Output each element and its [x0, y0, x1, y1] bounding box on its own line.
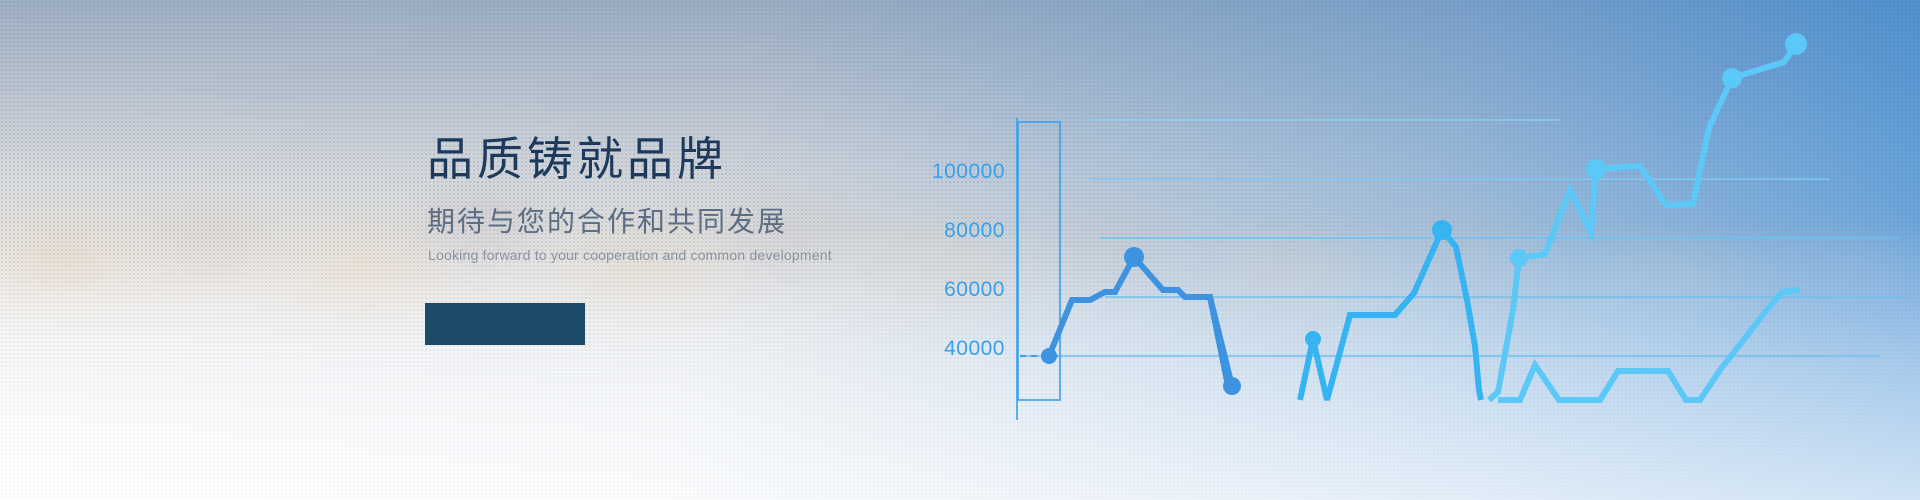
- hero-headline: 品质铸就品牌: [427, 136, 1047, 182]
- hero-subheadline-english: Looking forward to your cooperation and …: [428, 248, 1047, 262]
- hero-cta-button[interactable]: [425, 303, 585, 345]
- hero-subheadline: 期待与您的合作和共同发展: [427, 208, 1047, 236]
- hero-banner: 100000 80000 60000 40000: [0, 0, 1920, 500]
- hero-text-block: 品质铸就品牌 期待与您的合作和共同发展 Looking forward to y…: [427, 136, 1047, 262]
